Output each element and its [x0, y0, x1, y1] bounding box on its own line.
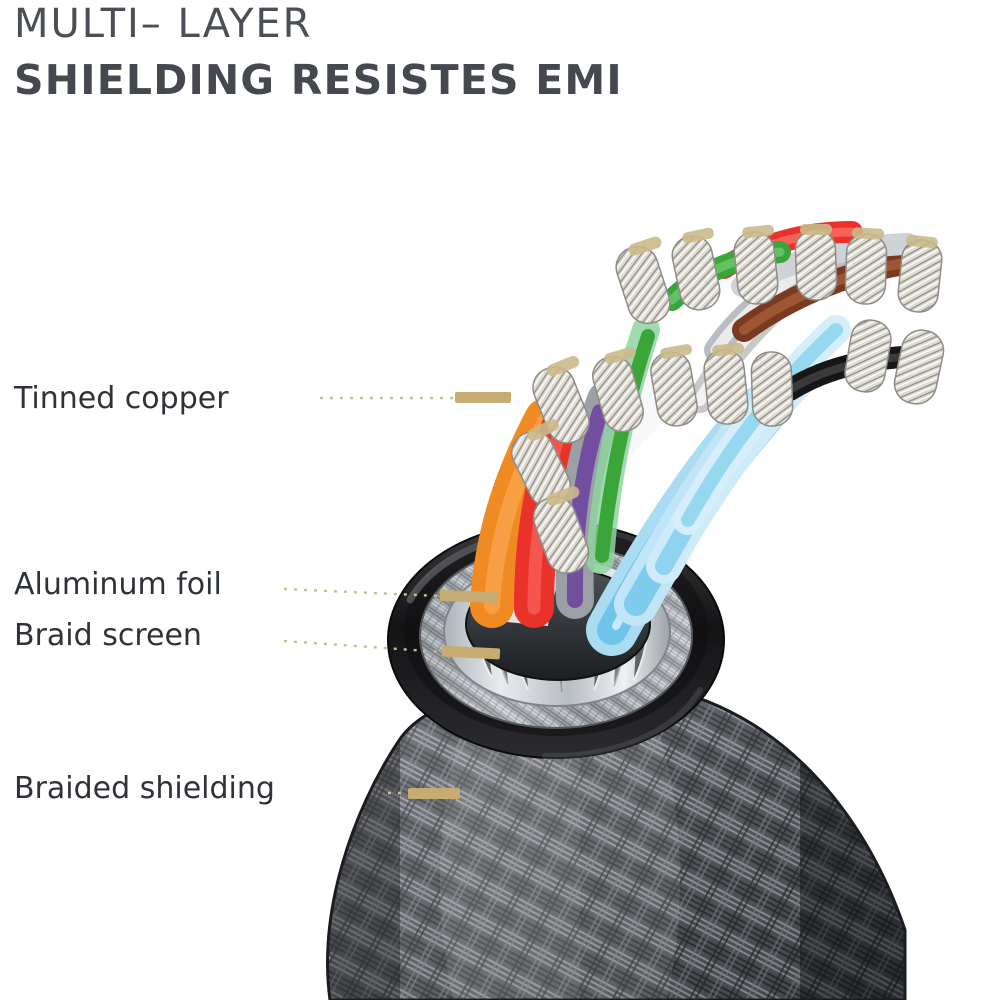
conductor-bundles [486, 224, 947, 630]
headline-block: MULTI– LAYER SHIELDING RESISTES EMI [14, 0, 914, 106]
callout-label-braid-screen: Braid screen [14, 618, 202, 653]
callout-label-braided-shielding: Braided shielding [14, 771, 275, 806]
headline-line-2: SHIELDING RESISTES EMI [14, 54, 914, 106]
cable-illustration [0, 0, 1000, 1000]
diagram-canvas: MULTI– LAYER SHIELDING RESISTES EMI Tinn… [0, 0, 1000, 1000]
callout-label-aluminum-foil: Aluminum foil [14, 567, 222, 602]
callout-label-tinned-copper: Tinned copper [14, 381, 229, 416]
headline-line-1: MULTI– LAYER [14, 0, 914, 48]
